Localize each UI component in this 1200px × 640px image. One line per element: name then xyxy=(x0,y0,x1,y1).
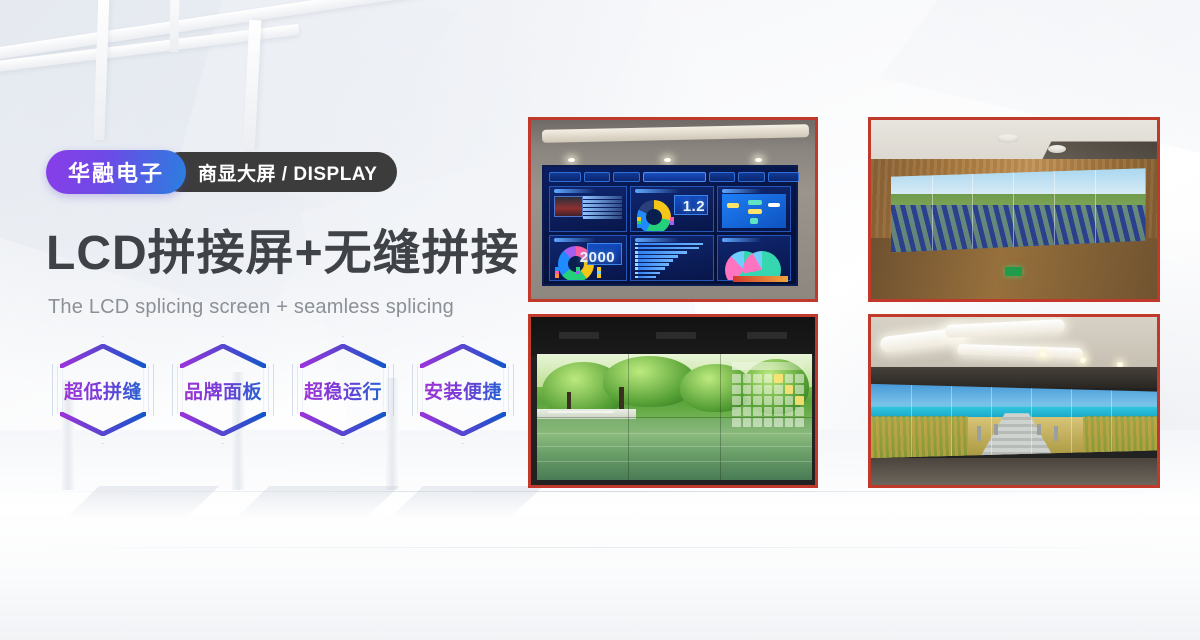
feature-badge-3: 超稳运行 xyxy=(286,332,400,448)
ceiling-downlight xyxy=(1040,351,1046,357)
card-title-bar xyxy=(722,189,761,193)
dashboard-card-grid: 1.2 xyxy=(549,186,791,281)
nav-chip xyxy=(768,172,799,182)
nav-chip xyxy=(709,172,736,182)
wall-band xyxy=(871,367,1157,387)
dashboard-card xyxy=(717,235,791,281)
photo-solar-farm-wall xyxy=(868,117,1160,302)
panel-seam xyxy=(951,381,952,458)
video-wall-screen xyxy=(871,381,1157,458)
feature-badge-label: 安装便捷 xyxy=(424,377,502,404)
wall-fixture xyxy=(747,332,787,338)
banner-stage: 华融电子 商显大屏 / DISPLAY LCD拼接屏+无缝拼接 The LCD … xyxy=(0,0,1200,640)
feature-badge-label: 超稳运行 xyxy=(304,377,382,404)
card-title-bar xyxy=(635,238,680,242)
wall-fixture xyxy=(559,332,599,338)
dashboard-card xyxy=(630,235,715,281)
nav-chip xyxy=(549,172,580,182)
photo-dashboard-video-wall: 1.2 xyxy=(528,117,818,302)
panel-seam xyxy=(1095,168,1096,252)
screen-lake-water xyxy=(537,419,813,479)
panel-seam xyxy=(1071,381,1072,458)
panel-seam xyxy=(991,381,992,458)
panel-seam xyxy=(1111,381,1112,458)
chevron-up-icon xyxy=(300,344,386,368)
bar-chart xyxy=(635,243,709,278)
exit-sign xyxy=(1005,267,1022,276)
video-wall-screen xyxy=(537,354,813,480)
dashboard-card xyxy=(717,186,791,232)
page-title: LCD拼接屏+无缝拼接 xyxy=(46,228,520,281)
dashboard-nav-bar xyxy=(549,170,791,183)
card-title-bar xyxy=(722,238,761,242)
calendar-grid xyxy=(732,374,804,427)
page-subtitle: The LCD splicing screen + seamless splic… xyxy=(48,296,454,319)
screen-post xyxy=(977,426,981,441)
nav-chip xyxy=(738,172,765,182)
chevron-up-icon xyxy=(180,344,266,368)
screen-grass xyxy=(871,416,968,458)
wall-fixture xyxy=(656,332,696,338)
panel-seam xyxy=(932,168,933,252)
metric-value: 2000 xyxy=(580,249,615,266)
ceiling-spotlight xyxy=(568,158,575,162)
panel-seam xyxy=(1031,381,1032,458)
process-flow-diagram xyxy=(722,194,786,228)
nav-chip xyxy=(584,172,611,182)
nav-title-chip xyxy=(643,172,706,182)
chevron-down-icon xyxy=(180,412,266,436)
calendar-header xyxy=(732,362,804,370)
chevron-down-icon xyxy=(300,412,386,436)
chevron-down-icon xyxy=(60,412,146,436)
panel-seam xyxy=(537,417,813,418)
feature-badge-1: 超低拼缝 xyxy=(46,332,160,448)
ceiling-spotlight xyxy=(664,158,671,162)
card-title-bar xyxy=(635,189,680,193)
feature-badge-4: 安装便捷 xyxy=(406,332,520,448)
screen-post xyxy=(1037,424,1041,435)
chevron-down-icon xyxy=(420,412,506,436)
dashboard-card: 1.2 xyxy=(630,186,715,232)
card-title-bar xyxy=(554,238,595,242)
feature-badge-2: 品牌面板 xyxy=(166,332,280,448)
brand-badge: 华融电子 xyxy=(46,150,186,194)
screen-calendar-overlay xyxy=(732,362,804,425)
photo-willow-lake-wall xyxy=(528,314,818,488)
photo-beach-boardwalk-wall xyxy=(868,314,1160,488)
wall-top-band xyxy=(531,317,815,356)
panel-seam xyxy=(911,381,912,458)
screen-watermark xyxy=(733,276,788,282)
ceiling-spotlight xyxy=(755,158,762,162)
feature-badge-row: 超低拼缝 品牌面板 xyxy=(46,332,520,448)
panel-seam xyxy=(972,168,973,252)
panel-seam xyxy=(1013,168,1014,252)
video-wall-screen: 1.2 xyxy=(542,165,798,287)
category-badge: 商显大屏 / DISPLAY xyxy=(160,152,397,192)
donut-chart xyxy=(637,200,671,232)
badge-row: 华融电子 商显大屏 / DISPLAY xyxy=(46,150,397,194)
floor-seam xyxy=(0,547,1200,548)
card-text-lines xyxy=(583,195,622,219)
card-thumbnail xyxy=(554,196,583,216)
card-title-bar xyxy=(554,189,595,193)
nav-chip xyxy=(613,172,640,182)
screen-grass xyxy=(1083,416,1157,458)
feature-badge-label: 超低拼缝 xyxy=(64,377,142,404)
feature-badge-label: 品牌面板 xyxy=(184,377,262,404)
video-wall-screen xyxy=(891,168,1146,252)
lobby-floor xyxy=(871,458,1157,485)
screen-post xyxy=(1054,426,1058,441)
ceiling-beam xyxy=(169,0,179,52)
chevron-up-icon xyxy=(420,344,506,368)
panel-seam xyxy=(1054,168,1055,252)
chevron-up-icon xyxy=(60,344,146,368)
dashboard-card: 2000 xyxy=(549,235,626,281)
dashboard-card xyxy=(549,186,626,232)
metric-value: 1.2 xyxy=(683,198,705,215)
screen-post xyxy=(994,424,998,435)
